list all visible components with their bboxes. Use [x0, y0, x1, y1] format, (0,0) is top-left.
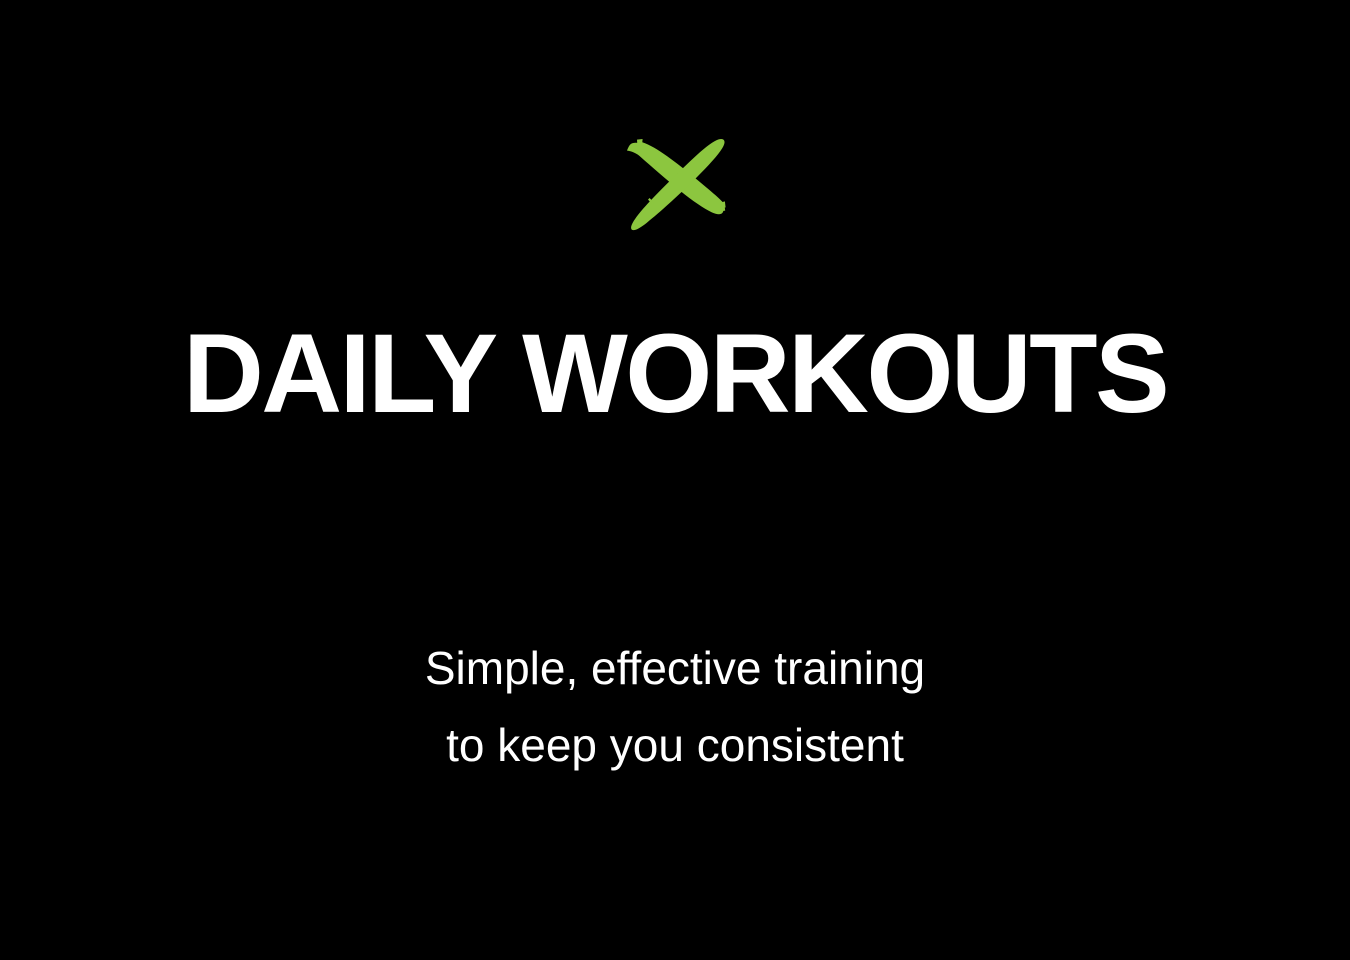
page-title: DAILY WORKOUTS	[0, 318, 1350, 430]
headline-container: DAILY WORKOUTS	[0, 318, 1350, 430]
app-splash-screen: DAILY WORKOUTS Simple, effective trainin…	[0, 0, 1350, 960]
brand-mark	[0, 130, 1350, 240]
brush-x-icon	[623, 130, 727, 232]
subtitle-line-1: Simple, effective training	[0, 630, 1350, 707]
subtitle-container: Simple, effective training to keep you c…	[0, 630, 1350, 784]
subtitle-line-2: to keep you consistent	[0, 707, 1350, 784]
